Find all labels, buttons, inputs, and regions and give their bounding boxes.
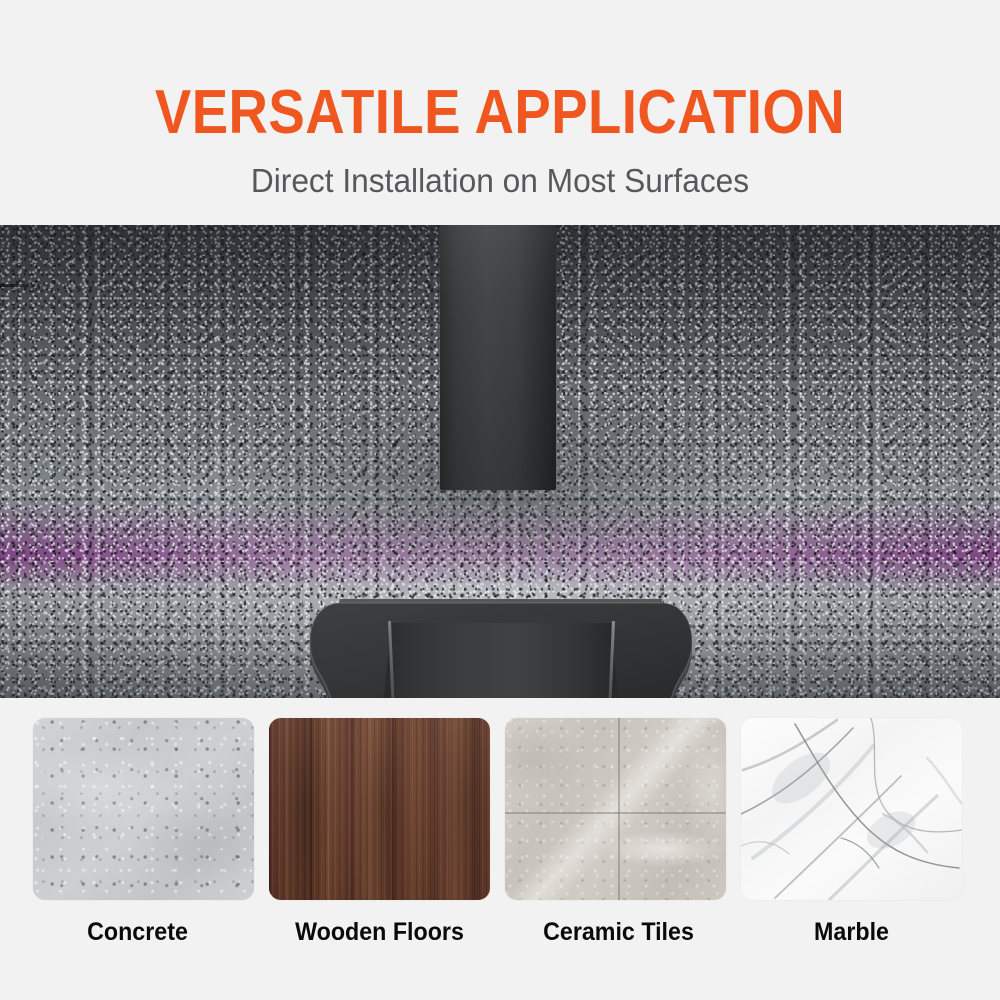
swatch-label-ceramic-tiles: Ceramic Tiles — [516, 916, 722, 948]
swatch-concrete — [33, 718, 254, 900]
product-feature-banner: VERSATILE APPLICATION Direct Installatio… — [0, 0, 1000, 1000]
stand-column — [440, 225, 556, 490]
subheadline: Direct Installation on Most Surfaces — [20, 160, 980, 202]
swatch-ceramic-tiles — [505, 718, 726, 900]
swatch-row — [0, 718, 1000, 900]
swatch-wooden-floors — [269, 718, 490, 900]
swatch-marble — [741, 718, 962, 900]
stand-assembly — [0, 225, 1000, 698]
headline: VERSATILE APPLICATION — [60, 80, 940, 146]
swatch-label-marble: Marble — [749, 916, 955, 948]
stand-pedestal — [376, 623, 626, 698]
swatch-label-wooden-floors: Wooden Floors — [277, 916, 483, 948]
product-photo — [0, 225, 1000, 698]
swatch-label-row: Concrete Wooden Floors Ceramic Tiles Mar… — [0, 916, 1000, 956]
swatch-label-concrete: Concrete — [35, 916, 241, 948]
banner-header: VERSATILE APPLICATION Direct Installatio… — [0, 0, 1000, 225]
surface-swatch-section: Concrete Wooden Floors Ceramic Tiles Mar… — [0, 698, 1000, 1000]
wood-grain-texture — [269, 718, 490, 900]
concrete-texture — [33, 718, 254, 900]
marble-veining — [741, 718, 962, 900]
tile-grout-lines — [505, 718, 726, 900]
